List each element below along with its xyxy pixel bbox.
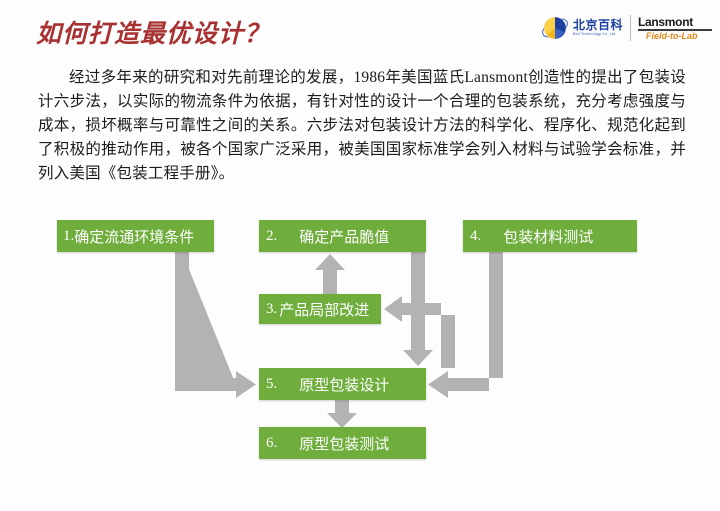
flow-step-4[interactable]: 4.包装材料测试	[463, 220, 637, 252]
bjbk-text-block: 北京百科 Beil Technology Co.,Ltd.	[573, 19, 623, 37]
flow-step-6[interactable]: 6.原型包装测试	[259, 427, 426, 459]
arrow-box4-to-box5	[428, 252, 503, 398]
flow-step-1-label: 确定流通环境条件	[74, 226, 194, 247]
logo-bar: 北京百科 Beil Technology Co.,Ltd. Lansmont F…	[540, 10, 712, 46]
globe-logo-icon	[540, 13, 570, 43]
bjbk-english-name: Beil Technology Co.,Ltd.	[573, 33, 623, 37]
body-paragraph: 经过多年来的研究和对先前理论的发展，1986年美国蓝氏Lansmont创造性的提…	[38, 66, 686, 186]
flow-step-3-number: 3.	[266, 301, 277, 318]
logo-beijing-baike: 北京百科 Beil Technology Co.,Ltd.	[540, 11, 623, 45]
flow-step-5-number: 5.	[266, 376, 277, 393]
arrow-box3-to-box2	[315, 254, 345, 294]
flow-step-1-number: 1.	[63, 228, 74, 245]
flow-step-3-label: 产品局部改进	[279, 299, 369, 320]
arrow-box5-to-box6	[327, 400, 357, 428]
logo-lansmont: Lansmont Field-to-Lab	[638, 16, 712, 41]
bjbk-chinese-name: 北京百科	[573, 19, 623, 31]
flow-step-3[interactable]: 3.产品局部改进	[259, 294, 381, 324]
flow-step-6-number: 6.	[266, 435, 277, 452]
flow-step-4-label: 包装材料测试	[503, 226, 593, 247]
arrow-box5-to-box3	[384, 296, 455, 368]
arrow-box2-to-box5	[403, 252, 433, 366]
flow-step-2-number: 2.	[266, 228, 277, 245]
flow-step-2-label: 确定产品脆值	[299, 226, 389, 247]
flow-step-5-label: 原型包装设计	[299, 374, 389, 395]
flow-step-1[interactable]: 1.确定流通环境条件	[57, 220, 214, 252]
flow-step-4-number: 4.	[470, 228, 481, 245]
flow-step-5[interactable]: 5.原型包装设计	[259, 368, 426, 400]
lansmont-wordmark: Lansmont	[638, 16, 693, 28]
lansmont-tagline: Field-to-Lab	[646, 32, 698, 41]
arrow-box1-to-box5	[175, 252, 256, 398]
flow-step-2[interactable]: 2.确定产品脆值	[259, 220, 426, 252]
logo-divider	[630, 15, 631, 41]
flow-step-6-label: 原型包装测试	[299, 433, 389, 454]
page-title: 如何打造最优设计？	[36, 14, 270, 50]
